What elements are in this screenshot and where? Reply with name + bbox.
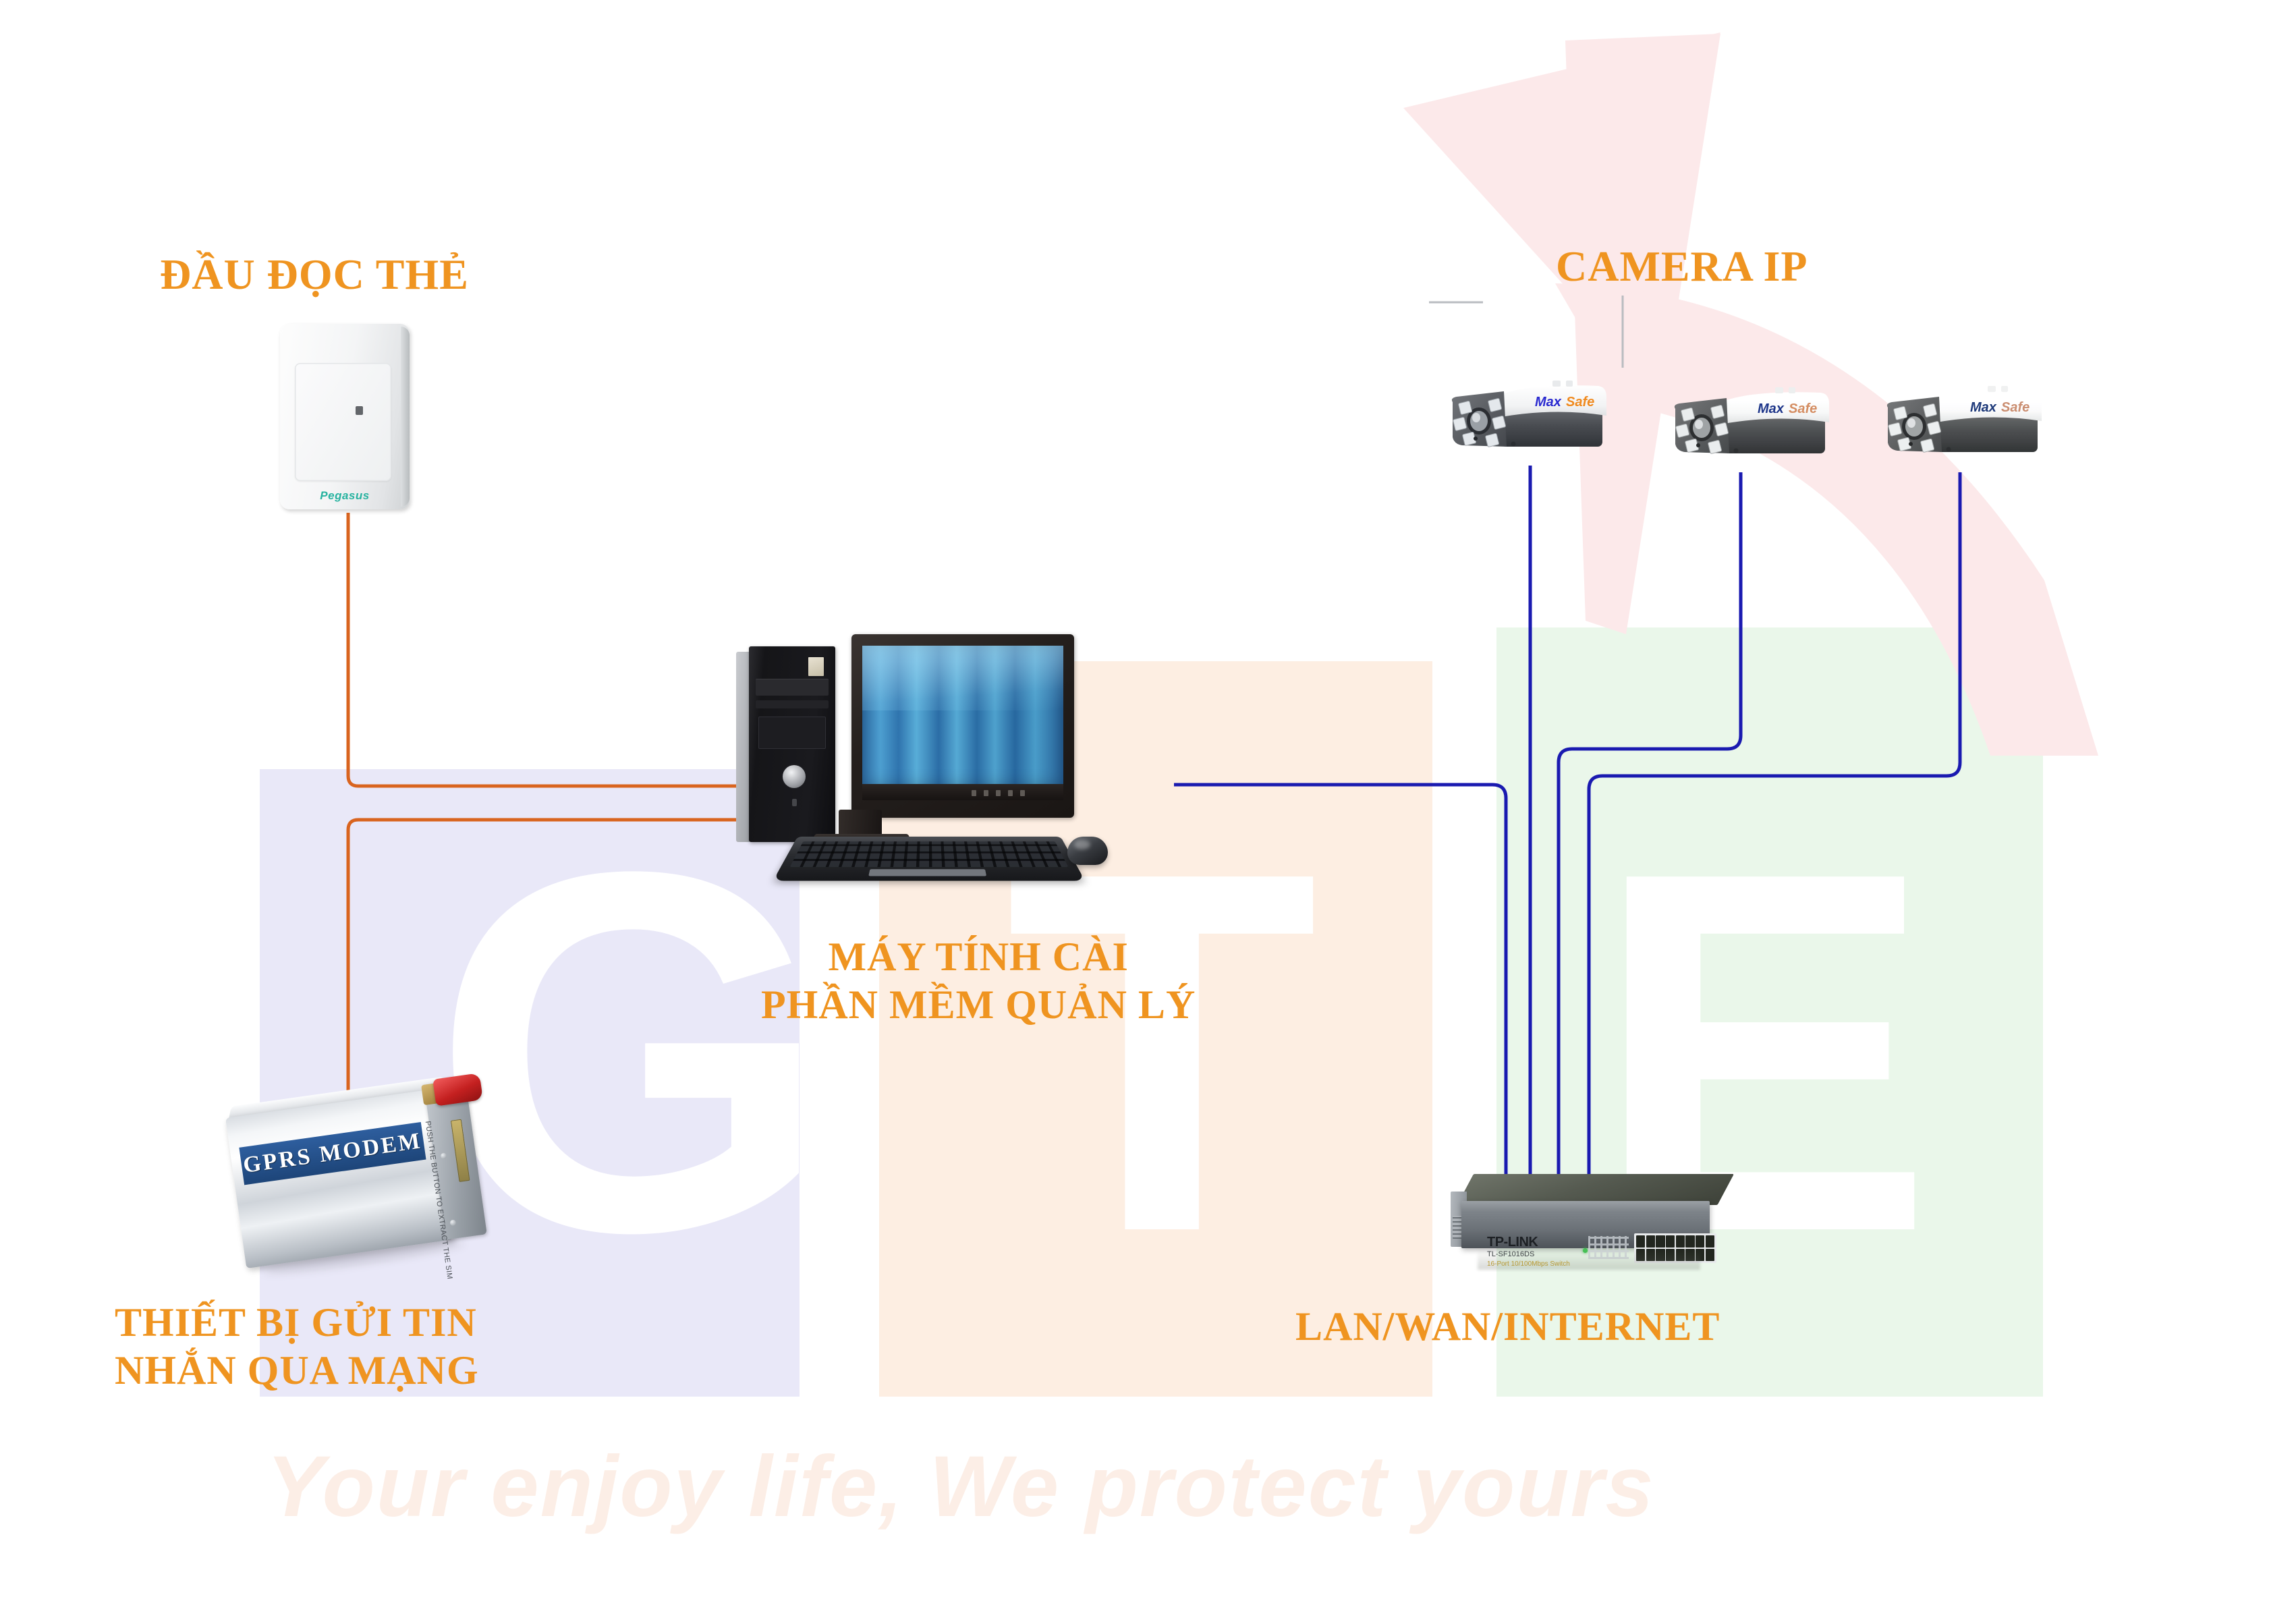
gprs-modem-device: GPRS MODEM PUSH THE BUTTON TO EXTRACT TH… [223,1061,501,1291]
network-switch-device: TP-LINK TL-SF1016DS 16-Port 10/100Mbps S… [1451,1174,1734,1275]
cable-cam3-to-switch [1589,472,1960,1187]
label-ip-cameras: CAMERA IP [1556,242,1808,291]
label-network-switch: LAN/WAN/INTERNET [1295,1304,1720,1350]
label-modem-line2: NHẮN QUA MẠNG [115,1347,479,1395]
label-computer-line1: MÁY TÍNH CÀI [761,933,1196,981]
card-reader-led-icon [356,406,363,415]
label-modem-line1: THIẾT BỊ GỬI TIN [115,1299,479,1347]
ip-camera-1: Max Safe [1434,371,1616,462]
svg-text:Safe: Safe [1789,401,1817,416]
front-bay-cover [758,717,826,749]
monitor-control-buttons[interactable] [972,790,1025,796]
svg-text:Max: Max [1970,400,1997,415]
network-diagram-canvas: G T E [0,0,2296,1624]
usb-port-icon [792,799,797,806]
card-reader-panel [295,363,391,481]
computer-workstation [749,634,1167,897]
modem-screw-icon [449,1219,456,1226]
switch-front-panel: TP-LINK TL-SF1016DS 16-Port 10/100Mbps S… [1461,1201,1710,1248]
optical-drive-icon [756,679,829,696]
label-computer-line2: PHẦN MỀM QUẢN LÝ [761,981,1196,1029]
cable-reader-to-pc [348,513,754,786]
switch-brand-logo: TP-LINK [1487,1235,1538,1250]
lcd-monitor [851,634,1074,818]
svg-text:Max: Max [1758,401,1785,416]
computer-tower [749,646,835,842]
switch-reflection [1478,1250,1700,1270]
cable-pc-to-switch [1174,785,1506,1187]
keyboard-keys [790,841,1069,867]
label-card-reader: ĐẦU ĐỌC THẺ [160,250,469,300]
label-computer: MÁY TÍNH CÀI PHẦN MỀM QUẢN LÝ [761,933,1196,1029]
keyboard[interactable] [773,837,1086,881]
ip-camera-3: Max Safe [1869,376,2051,468]
card-reader-brand-logo: Pegasus [280,489,410,503]
monitor-stand-neck [839,810,882,837]
svg-text:Max: Max [1535,395,1562,410]
tower-side-panel [736,652,750,842]
tower-sticker [808,657,824,676]
computer-mouse[interactable] [1067,837,1108,865]
modem-antenna-connector [432,1073,483,1106]
cable-modem-to-pc [348,820,754,1093]
label-gprs-modem: THIẾT BỊ GỬI TIN NHẮN QUA MẠNG [115,1299,479,1395]
power-button-icon [783,765,806,788]
modem-screw-icon [440,1152,447,1159]
ip-camera-2: Max Safe [1656,378,1839,469]
drive-bay-slot [756,700,829,708]
svg-text:Safe: Safe [1566,395,1594,410]
company-tagline: Your enjoy life, We protect yours [267,1437,1655,1536]
monitor-screen-glare [862,646,1063,710]
svg-text:Safe: Safe [2001,400,2029,415]
monitor-chin [862,784,1063,800]
card-reader-device: Pegasus [280,324,410,509]
cable-cam2-to-switch [1559,472,1741,1187]
keyboard-spacebar [868,869,986,876]
mouse-highlight [1074,840,1090,849]
card-reader-edge [401,327,410,507]
